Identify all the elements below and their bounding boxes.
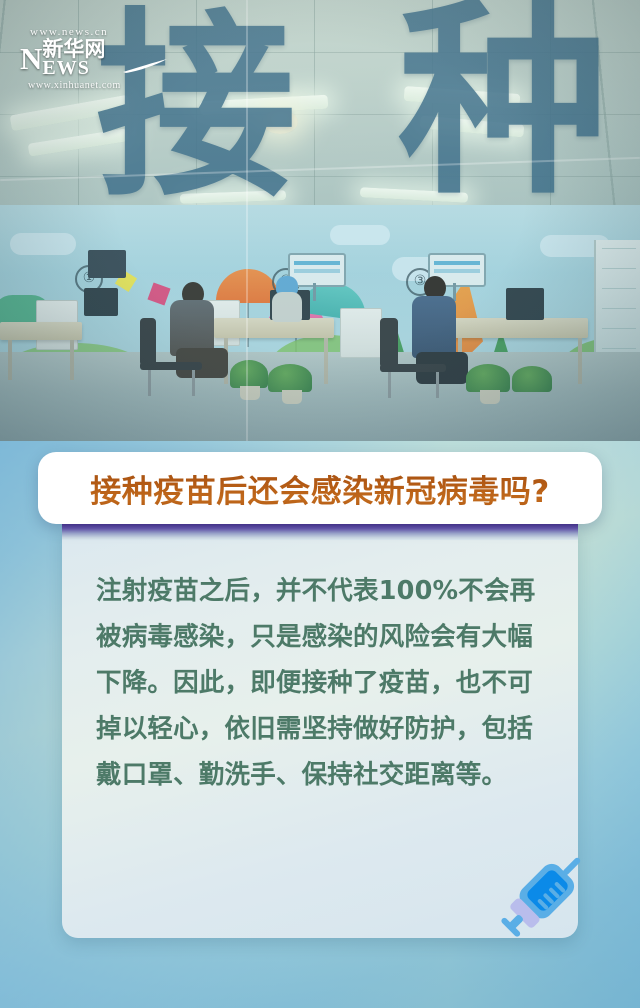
desk-leg — [70, 340, 74, 380]
potted-plant — [466, 364, 510, 392]
potted-plant — [230, 360, 268, 388]
chair-back — [140, 318, 156, 366]
potted-plant — [268, 364, 312, 392]
chair-back — [380, 318, 398, 368]
mural-cloud — [10, 233, 76, 255]
chair-seat — [380, 364, 446, 372]
display-pole — [453, 283, 456, 301]
glass-character-zhong: 种 — [398, 0, 608, 206]
plant-pot — [480, 390, 500, 404]
computer-monitor — [84, 288, 118, 316]
mural-kite — [147, 282, 170, 305]
chair-leg — [148, 370, 151, 396]
person-torso — [272, 292, 302, 322]
clinic-photo: ① ② ③ — [0, 0, 640, 441]
desk-leg — [8, 340, 12, 380]
desk-leg — [578, 338, 582, 384]
card-accent-band — [62, 524, 578, 540]
desk — [0, 322, 82, 340]
chair-leg — [192, 370, 195, 396]
desk — [448, 318, 588, 338]
mural-cloud — [330, 225, 390, 245]
glass-seam — [246, 0, 248, 441]
syringe-icon — [492, 842, 596, 946]
potted-plant — [512, 366, 552, 392]
plant-pot — [240, 386, 260, 400]
plant-pot — [282, 390, 302, 404]
glass-character-jie: 接 — [96, 8, 296, 208]
question-text: 接种疫苗后还会感染新冠病毒吗? — [90, 466, 549, 511]
cabinet — [340, 308, 382, 358]
desk-leg — [324, 338, 328, 384]
wall-monitor-dark — [88, 250, 126, 278]
chair-seat — [140, 362, 202, 370]
question-pill: 接种疫苗后还会感染新冠病毒吗? — [38, 452, 602, 524]
chair-leg — [388, 372, 391, 398]
chair-leg — [436, 372, 439, 398]
computer-monitor — [506, 288, 544, 320]
display-pole — [313, 283, 316, 301]
window — [594, 240, 640, 360]
person-torso — [412, 296, 456, 358]
poster-root: ① ② ③ — [0, 0, 640, 1008]
floor — [0, 352, 640, 441]
answer-text: 注射疫苗之后，并不代表100%不会再被病毒感染，只是感染的风险会有大幅下降。因此… — [96, 568, 548, 798]
